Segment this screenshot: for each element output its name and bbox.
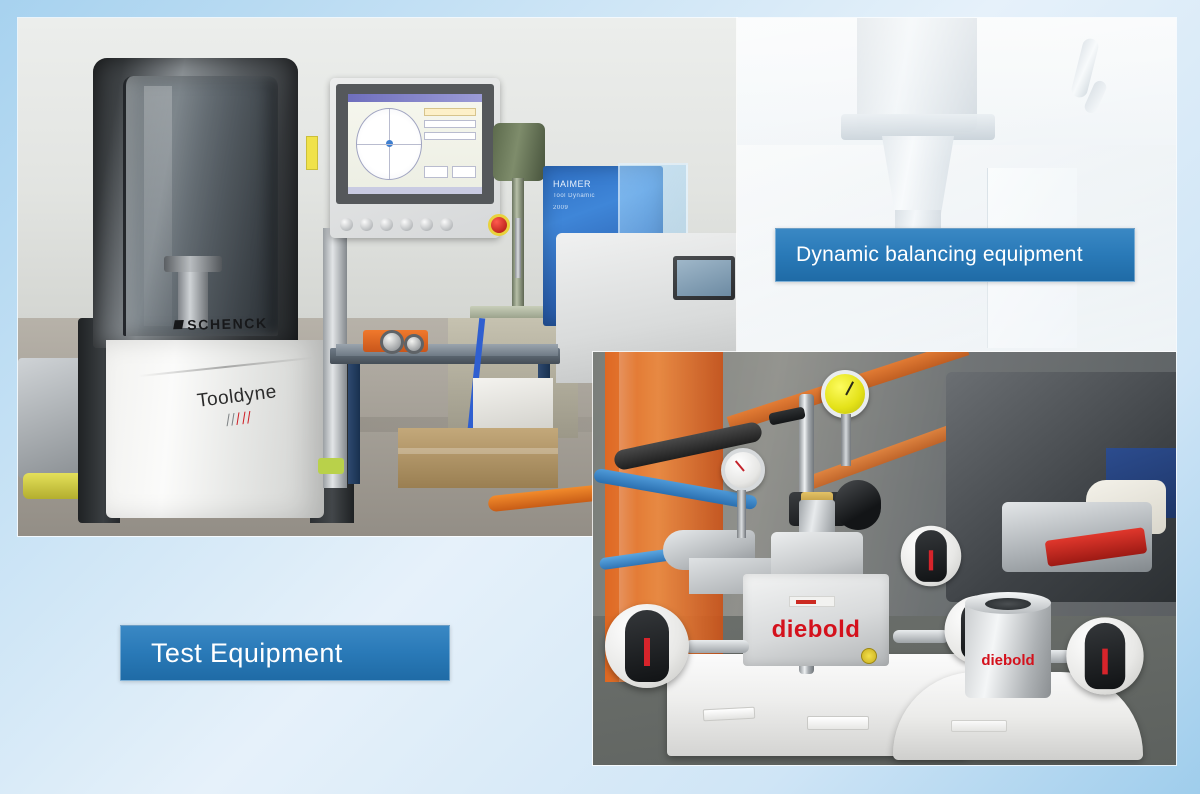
yellow-dial-indicator — [821, 370, 869, 418]
spindle-toolholder-closeup-photo — [737, 18, 1176, 352]
drill-press-head — [493, 123, 545, 181]
unbalance-point-marker — [386, 140, 393, 147]
spindle-scene — [737, 18, 1176, 352]
white-dial-indicator — [721, 448, 765, 492]
software-buttons — [424, 166, 476, 178]
dynamic-balancing-label-text: Dynamic balancing equipment — [796, 243, 1083, 267]
haimer-code-text: 2009 — [553, 202, 595, 214]
plate-label — [807, 716, 869, 730]
balancing-software-screen — [348, 94, 482, 194]
gauge-shaft — [893, 630, 949, 643]
measuring-gauge-head — [605, 604, 689, 688]
tool-ring — [404, 334, 424, 354]
tool-ring — [380, 330, 404, 354]
presetter-nameplate — [789, 596, 835, 607]
diebold-tool-presetter-photo: diebold diebold — [593, 352, 1176, 765]
software-status-bar — [348, 187, 482, 194]
photo-overlay-wash — [737, 18, 1176, 352]
warning-sticker — [306, 136, 318, 170]
diebold-brand-logo: diebold — [751, 616, 881, 644]
cnc-control-screen — [673, 256, 735, 300]
certification-sticker — [861, 648, 877, 664]
test-equipment-label-text: Test Equipment — [151, 638, 343, 669]
green-item — [318, 458, 344, 474]
measuring-gauge-head — [1066, 617, 1143, 694]
gauge-shaft — [685, 640, 749, 653]
test-equipment-label: Test Equipment — [120, 625, 450, 681]
plate-label — [951, 720, 1007, 732]
polar-unbalance-plot — [356, 108, 422, 180]
haimer-model-text: Tool Dynamic — [553, 190, 595, 202]
haimer-brand-logo: HAIMER Tool Dynamic 2009 — [553, 178, 595, 214]
dynamic-balancing-label: Dynamic balancing equipment — [775, 228, 1135, 282]
monitor-brand-mark: SCHENCK — [704, 87, 727, 92]
measurement-fields — [424, 108, 476, 144]
emergency-stop-button — [488, 214, 510, 236]
cylindrical-workpiece — [965, 600, 1051, 698]
workpiece-bore — [985, 598, 1031, 610]
dial-indicator-stem — [841, 414, 851, 466]
presetter-scene: diebold diebold — [593, 352, 1176, 765]
wooden-pallet — [398, 428, 558, 488]
drill-bit — [515, 218, 521, 278]
schenck-brand-text: SCHENCK — [187, 315, 268, 333]
workbench-leg — [348, 364, 360, 484]
software-title-bar — [348, 94, 482, 102]
operator-button-row — [340, 218, 490, 231]
haimer-brand-text: HAIMER — [553, 178, 595, 190]
measuring-gauge-head — [901, 526, 961, 586]
dial-indicator-stem — [737, 490, 746, 538]
adjustment-knob — [835, 480, 881, 530]
diebold-secondary-logo: diebold — [965, 652, 1051, 669]
